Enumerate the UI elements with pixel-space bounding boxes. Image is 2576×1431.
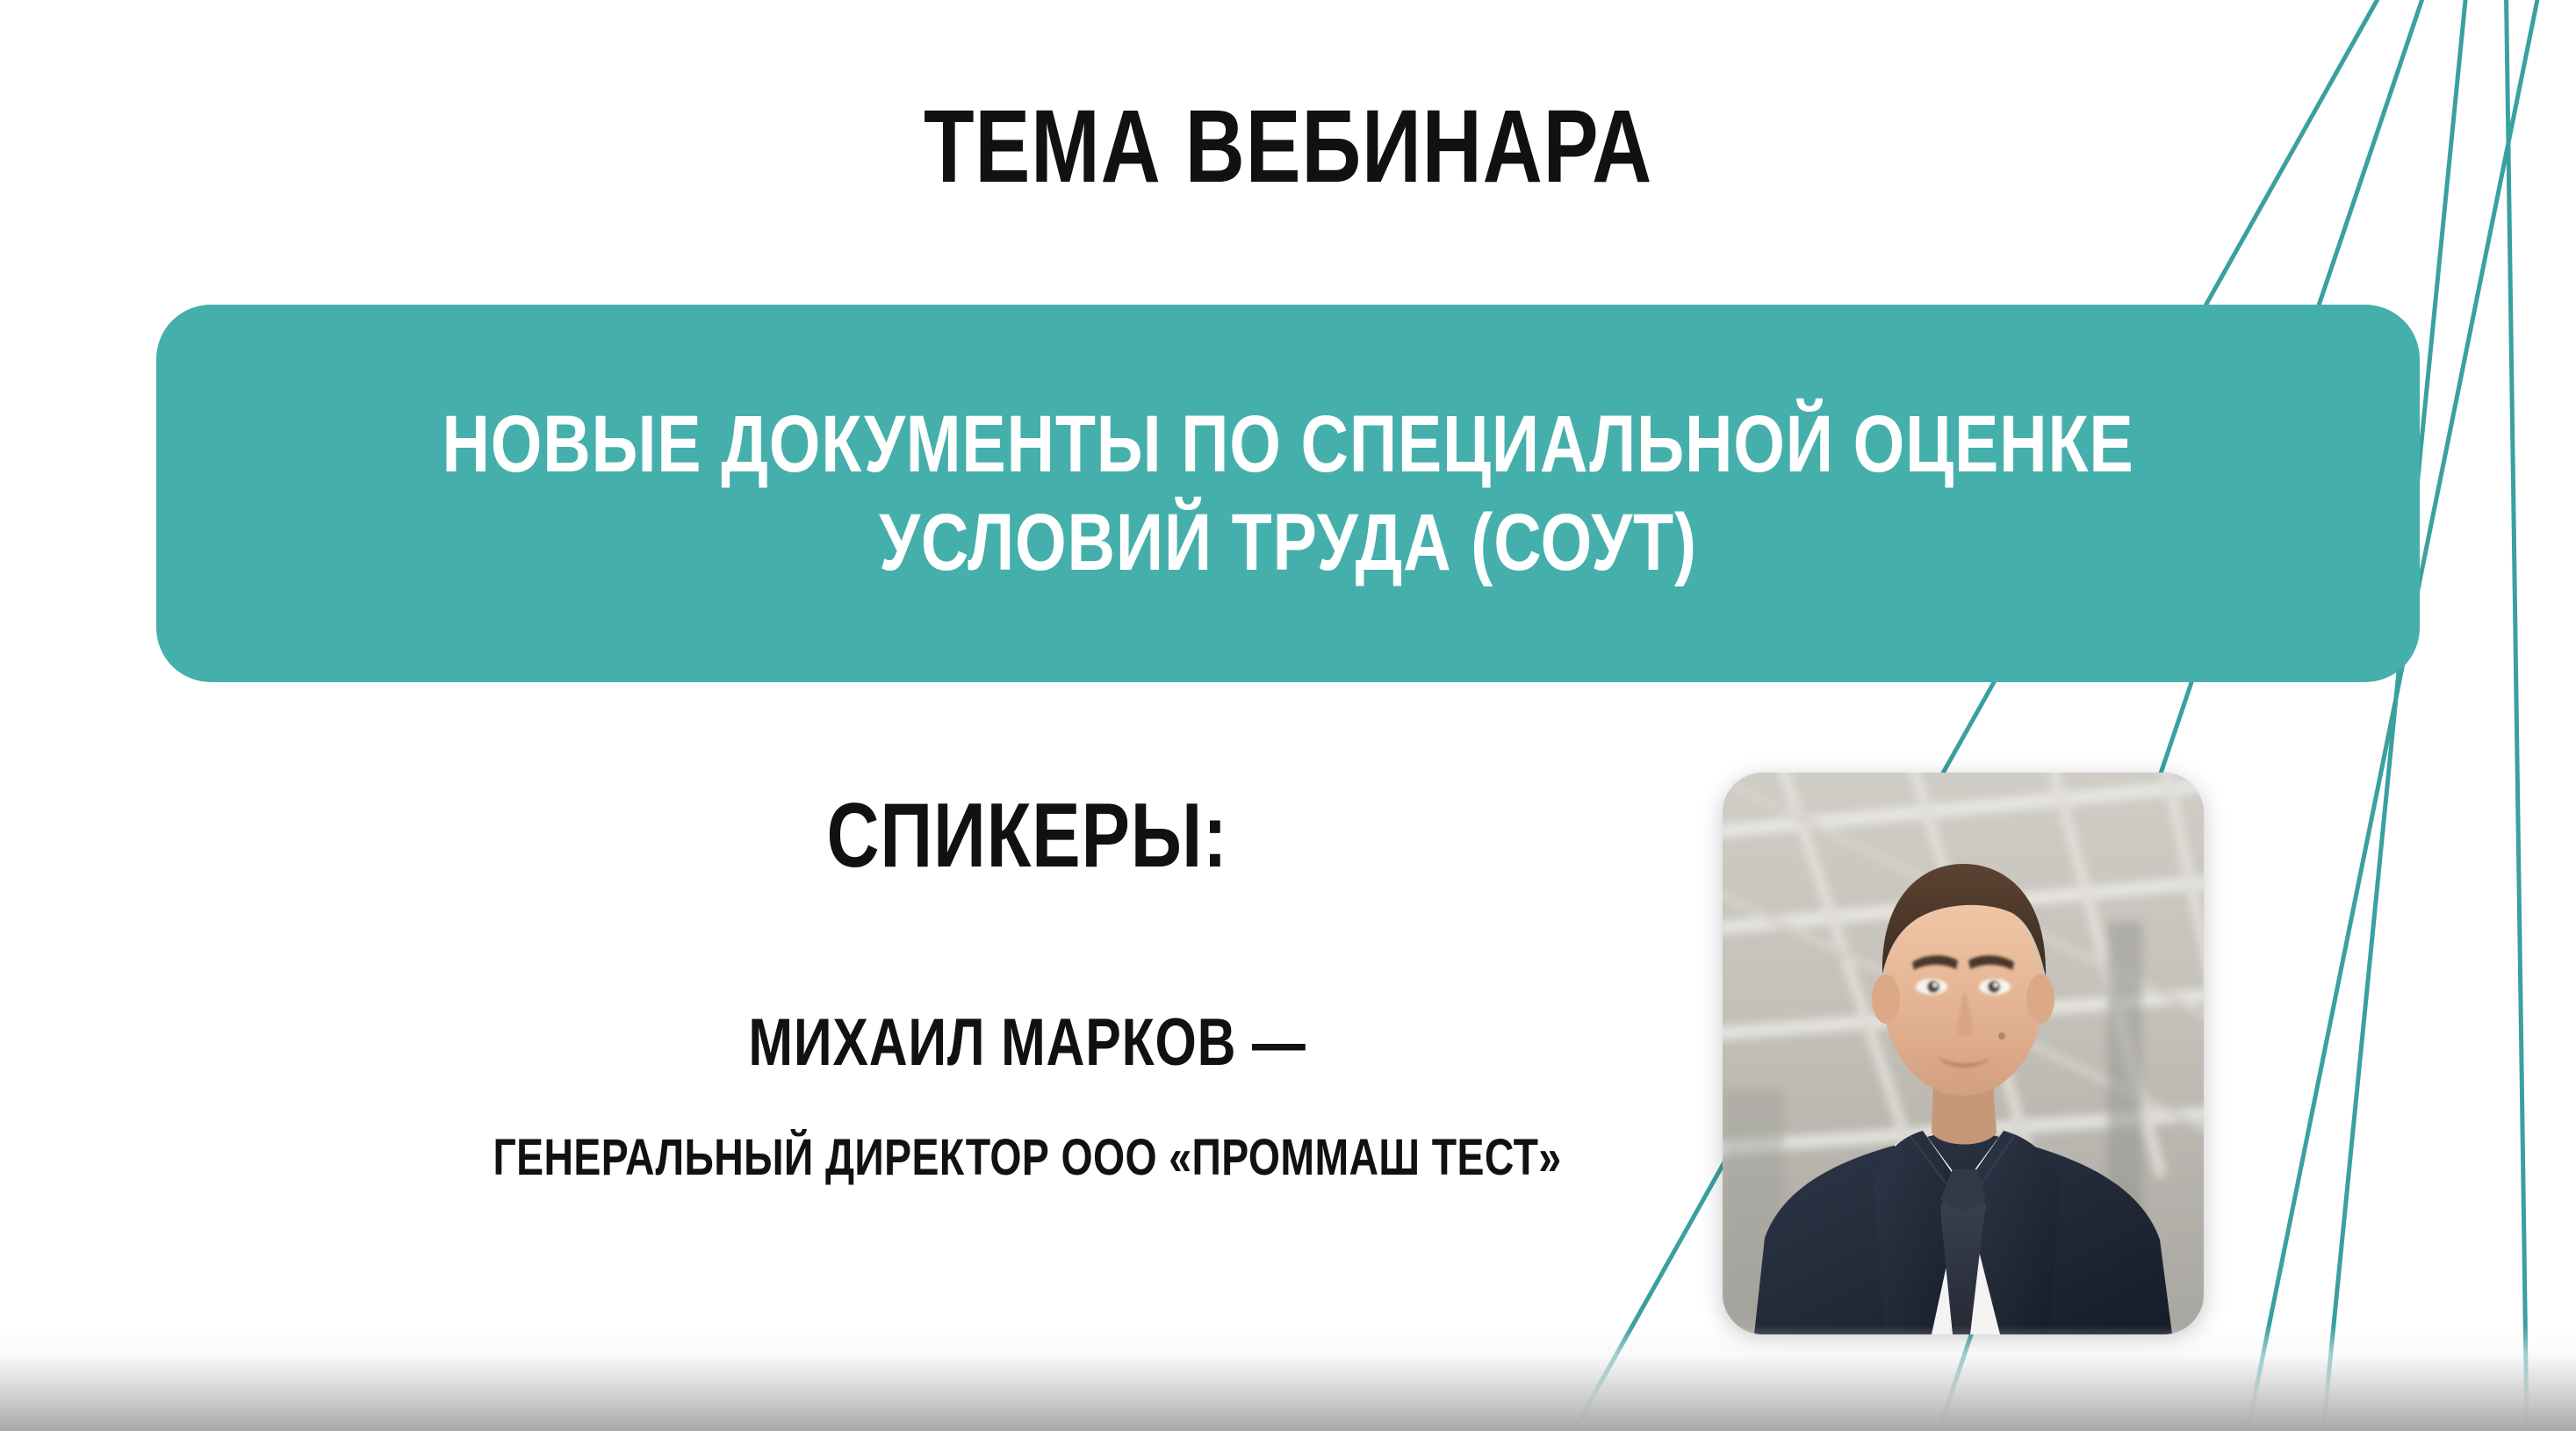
page-title: ТЕМА ВЕБИНАРА bbox=[257, 93, 2318, 202]
webinar-slide: ТЕМА ВЕБИНАРА НОВЫЕ ДОКУМЕНТЫ ПО СПЕЦИАЛ… bbox=[0, 0, 2576, 1431]
decorative-line bbox=[2248, 0, 2544, 1431]
speaker-photo bbox=[1723, 773, 2204, 1334]
speaker-name: МИХАИЛ МАРКОВ — bbox=[205, 1010, 1849, 1076]
bottom-gradient-band bbox=[0, 1326, 2576, 1431]
decorative-line bbox=[2323, 0, 2469, 1431]
decorative-line bbox=[2506, 0, 2527, 1431]
topic-banner: НОВЫЕ ДОКУМЕНТЫ ПО СПЕЦИАЛЬНОЙ ОЦЕНКЕ УС… bbox=[156, 305, 2420, 682]
speaker-role: ГЕНЕРАЛЬНЫЙ ДИРЕКТОР ООО «ПРОММАШ ТЕСТ» bbox=[205, 1133, 1849, 1183]
speaker-portrait-image bbox=[1723, 773, 2204, 1334]
speakers-label: СПИКЕРЫ: bbox=[205, 790, 1849, 881]
topic-banner-text: НОВЫЕ ДОКУМЕНТЫ ПО СПЕЦИАЛЬНОЙ ОЦЕНКЕ УС… bbox=[442, 395, 2133, 592]
